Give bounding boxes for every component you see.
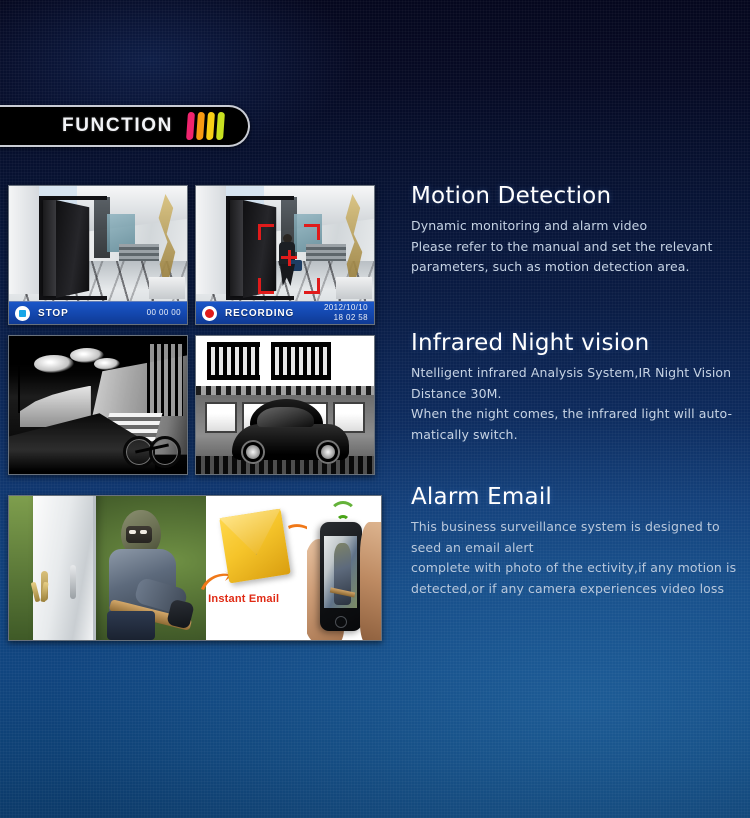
night-car-scene xyxy=(196,336,374,474)
hand-fingers-front xyxy=(360,522,381,640)
bracket-corner-bottom-left xyxy=(258,278,274,294)
function-banner-label: FUNCTION xyxy=(62,115,173,137)
dvr-preview-stop[interactable]: STOP 00 00 00 xyxy=(8,185,188,325)
banner-stripe-4 xyxy=(216,112,225,140)
balcony-right xyxy=(271,342,332,381)
utility-pole xyxy=(18,366,20,413)
alarm-email-composite: Instant Email xyxy=(9,496,381,640)
section-body-line: Distance 30M. xyxy=(411,384,750,405)
email-envelope-icon xyxy=(219,509,291,584)
section-body-line: Ntelligent infrared Analysis System,IR N… xyxy=(411,363,750,384)
section-motion-detection: Motion Detection Dynamic monitoring and … xyxy=(411,183,750,278)
intruder-eye-right xyxy=(140,530,147,534)
section-body-line: parameters, such as motion detection are… xyxy=(411,257,750,278)
lobby-door-edge xyxy=(230,200,243,296)
masked-intruder xyxy=(102,510,189,640)
lobby-door-edge xyxy=(43,200,56,296)
section-body-line: Please refer to the manual and set the r… xyxy=(411,237,750,258)
section-title: Infrared Night vision xyxy=(411,330,750,357)
lobby-left-column xyxy=(196,186,226,294)
balcony-left xyxy=(207,342,260,381)
bicycle xyxy=(123,422,181,468)
dvr-timestamp: 2012/10/10 18 02 58 xyxy=(324,303,368,323)
night-street-scene xyxy=(9,336,187,474)
facade-trim-band xyxy=(196,386,374,396)
burglar-scene xyxy=(9,496,206,640)
page-root: FUNCTION xyxy=(0,0,750,818)
dvr-timestamp-line2: 18 02 58 xyxy=(324,313,368,323)
phone-home-button xyxy=(335,616,347,628)
alarm-email-illustration[interactable]: Instant Email xyxy=(8,495,382,641)
lobby-left-column xyxy=(9,186,39,294)
keys-in-lock xyxy=(31,582,53,608)
stop-icon xyxy=(15,306,30,321)
dvr-timestamp: 00 00 00 xyxy=(147,308,181,318)
crosshair-icon xyxy=(281,250,297,266)
dvr-timestamp-line1: 00 00 00 xyxy=(147,308,181,318)
function-banner: FUNCTION xyxy=(0,105,250,147)
parked-car xyxy=(232,402,349,460)
email-transfer-graphic: Instant Email xyxy=(206,496,306,640)
window-handle xyxy=(70,565,76,599)
dvr-status-label: STOP xyxy=(38,308,69,319)
night-vision-image-row xyxy=(8,335,375,475)
motion-detection-bracket xyxy=(258,224,320,294)
lobby-open-door xyxy=(56,200,89,298)
record-icon xyxy=(202,306,217,321)
instant-email-caption: Instant Email xyxy=(208,593,279,605)
banner-stripe-2 xyxy=(196,112,205,140)
dvr-timestamp-line1: 2012/10/10 xyxy=(324,303,368,313)
window-grille xyxy=(147,344,183,416)
dvr-status-bar-stop: STOP 00 00 00 xyxy=(9,301,187,324)
motion-detection-image-row: STOP 00 00 00 xyxy=(8,185,375,325)
section-title: Motion Detection xyxy=(411,183,750,210)
section-body-line: Dynamic monitoring and alarm video xyxy=(411,216,750,237)
phone-screen-alert-photo xyxy=(324,536,357,608)
night-vision-car-photo[interactable] xyxy=(195,335,375,475)
smartphone xyxy=(320,522,362,631)
section-infrared-night-vision: Infrared Night vision Ntelligent infrare… xyxy=(411,330,750,445)
banner-stripe-3 xyxy=(206,112,215,140)
section-body-line: seed an email alert xyxy=(411,538,750,559)
bicycle-wheel-front xyxy=(149,436,181,468)
intruder-trousers xyxy=(107,611,156,640)
car-window xyxy=(257,407,313,427)
section-title: Alarm Email xyxy=(411,484,750,511)
phone-alert-scene xyxy=(307,496,381,640)
lobby-pedestal xyxy=(149,277,185,299)
intruder-face-opening xyxy=(126,526,152,543)
section-body-line: When the night comes, the infrared light… xyxy=(411,404,750,425)
bracket-corner-bottom-right xyxy=(304,278,320,294)
bracket-corner-top-left xyxy=(258,224,274,240)
dvr-preview-recording[interactable]: RECORDING 2012/10/10 18 02 58 xyxy=(195,185,375,325)
dvr-status-bar-recording: RECORDING 2012/10/10 18 02 58 xyxy=(196,301,374,324)
banner-stripe-1 xyxy=(186,112,195,140)
alarm-email-image-row: Instant Email xyxy=(8,495,382,641)
car-wheel-front xyxy=(316,440,340,464)
lobby-pedestal xyxy=(336,277,372,299)
section-body-line: complete with photo of the ectivity,if a… xyxy=(411,558,750,579)
bracket-corner-top-right xyxy=(304,224,320,240)
night-vision-street-photo[interactable] xyxy=(8,335,188,475)
dvr-status-label: RECORDING xyxy=(225,308,294,319)
section-body-line: matically switch. xyxy=(411,425,750,446)
section-body-line: This business surveillance system is des… xyxy=(411,517,750,538)
intruder-eye-left xyxy=(129,530,136,534)
section-body-line: detected,or if any camera experiences vi… xyxy=(411,579,750,600)
car-wheel-rear xyxy=(241,440,265,464)
banner-stripes xyxy=(187,112,224,140)
section-alarm-email: Alarm Email This business surveillance s… xyxy=(411,484,750,599)
house-window xyxy=(33,496,96,640)
